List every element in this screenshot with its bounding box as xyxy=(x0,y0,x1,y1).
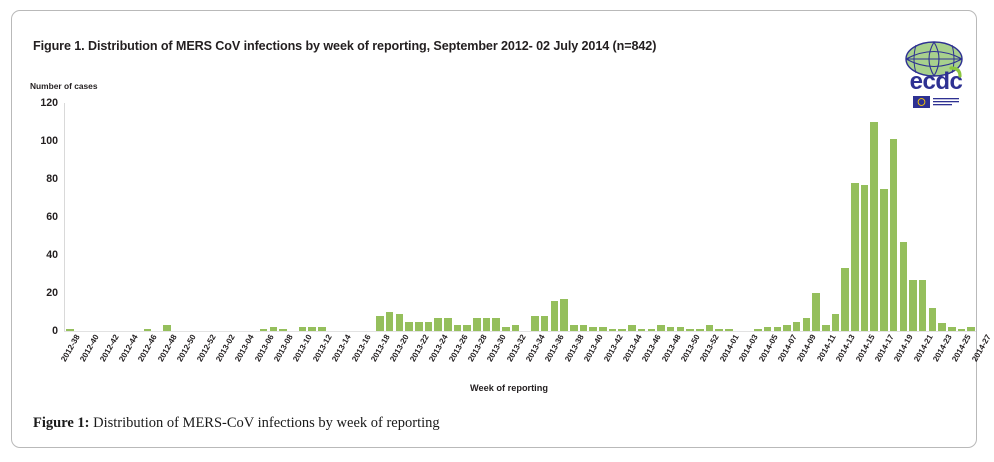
bar xyxy=(386,312,394,331)
bar xyxy=(473,318,481,331)
bar xyxy=(967,327,975,331)
bar xyxy=(783,325,791,331)
bar xyxy=(774,327,782,331)
bar xyxy=(483,318,491,331)
bar xyxy=(492,318,500,331)
x-tick-label: 2014-27 xyxy=(970,333,993,363)
bar xyxy=(434,318,442,331)
y-tick-100: 100 xyxy=(40,135,58,147)
bar xyxy=(696,329,704,331)
bar xyxy=(570,325,578,331)
bar xyxy=(502,327,510,331)
bar xyxy=(512,325,520,331)
bar xyxy=(163,325,171,331)
y-tick-40: 40 xyxy=(46,249,58,261)
bar xyxy=(308,327,316,331)
bar xyxy=(929,308,937,331)
bar xyxy=(841,268,849,331)
y-tick-80: 80 xyxy=(46,173,58,185)
bar xyxy=(609,329,617,331)
svg-text:ecdc: ecdc xyxy=(910,68,963,95)
bar xyxy=(444,318,452,331)
bar xyxy=(657,325,665,331)
x-axis-title: Week of reporting xyxy=(12,383,994,393)
bar xyxy=(560,299,568,331)
figure-caption-text: Distribution of MERS-CoV infections by w… xyxy=(90,415,440,431)
bar-series xyxy=(65,103,976,331)
bar xyxy=(754,329,762,331)
bar xyxy=(318,327,326,331)
ecdc-wordmark: ecdc xyxy=(910,68,963,95)
bar xyxy=(144,329,152,331)
bar xyxy=(861,185,869,331)
bar xyxy=(463,325,471,331)
bar xyxy=(405,322,413,332)
bar xyxy=(870,122,878,331)
bar xyxy=(66,329,74,331)
bar xyxy=(279,329,287,331)
bar xyxy=(667,327,675,331)
bar xyxy=(822,325,830,331)
bar xyxy=(686,329,694,331)
bar xyxy=(958,329,966,331)
bar xyxy=(938,323,946,331)
x-axis-ticks: 2012-382012-402012-422012-442012-462012-… xyxy=(64,333,976,385)
bar xyxy=(793,322,801,332)
bar xyxy=(299,327,307,331)
chart-title: Figure 1. Distribution of MERS CoV infec… xyxy=(33,39,656,53)
ecdc-logo: ecdc xyxy=(894,38,978,112)
bar xyxy=(531,316,539,331)
bar xyxy=(909,280,917,331)
bar xyxy=(851,183,859,331)
figure-caption: Figure 1: Distribution of MERS-CoV infec… xyxy=(33,415,440,432)
bar xyxy=(260,329,268,331)
bar xyxy=(580,325,588,331)
bar xyxy=(832,314,840,331)
bar xyxy=(706,325,714,331)
plot-area: 020406080100120 xyxy=(64,103,976,332)
bar xyxy=(376,316,384,331)
bar xyxy=(589,327,597,331)
bar xyxy=(948,327,956,331)
y-tick-0: 0 xyxy=(52,325,58,337)
bar xyxy=(551,301,559,331)
y-tick-120: 120 xyxy=(40,97,58,109)
y-axis-title: Number of cases xyxy=(30,81,98,91)
bar xyxy=(541,316,549,331)
y-tick-20: 20 xyxy=(46,287,58,299)
bar xyxy=(677,327,685,331)
bar xyxy=(715,329,723,331)
bar xyxy=(638,329,646,331)
y-tick-60: 60 xyxy=(46,211,58,223)
figure-caption-label: Figure 1: xyxy=(33,415,90,431)
bar xyxy=(415,322,423,332)
bar xyxy=(725,329,733,331)
bar xyxy=(919,280,927,331)
bar xyxy=(628,325,636,331)
bar xyxy=(270,327,278,331)
bar xyxy=(803,318,811,331)
bar xyxy=(599,327,607,331)
figure-card: Figure 1. Distribution of MERS CoV infec… xyxy=(11,10,977,448)
bar xyxy=(900,242,908,331)
bar xyxy=(648,329,656,331)
bar xyxy=(425,322,433,332)
x-tick-label: 2014-09 xyxy=(796,333,819,363)
bar xyxy=(618,329,626,331)
bar xyxy=(812,293,820,331)
bar xyxy=(764,327,772,331)
bar xyxy=(396,314,404,331)
bar xyxy=(880,189,888,332)
bar xyxy=(454,325,462,331)
bar xyxy=(890,139,898,331)
